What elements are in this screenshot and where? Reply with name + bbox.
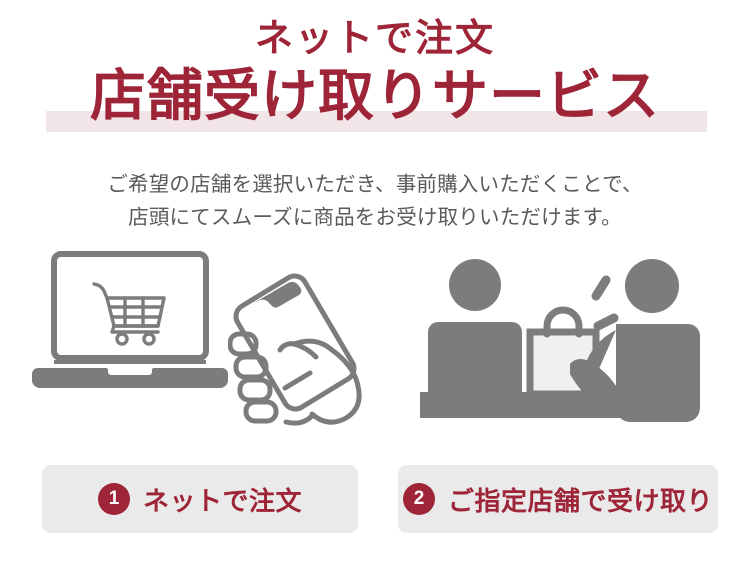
headline-main-wrapper: 店舗受け取りサービス (0, 68, 750, 132)
customer-head (449, 259, 501, 311)
headline-top: ネットで注文 (0, 20, 750, 58)
page-title: 店舗受け取りサービス (0, 68, 750, 124)
description: ご希望の店舗を選択いただき、事前購入いただくことで、 店頭にてスムーズに商品をお… (0, 168, 750, 234)
step-item-2[interactable]: 2 ご指定店舗で受け取り (398, 465, 718, 533)
store-counter-handover-icon (420, 252, 712, 429)
description-line-1: ご希望の店舗を選択いただき、事前購入いただくことで、 (0, 168, 750, 201)
description-line-2: 店頭にてスムーズに商品をお受け取りいただけます。 (0, 201, 750, 234)
step-number-badge-2: 2 (403, 483, 435, 515)
step-label-2: ご指定店舗で受け取り (448, 481, 713, 518)
illustration-row (0, 250, 750, 435)
promo-banner: ネットで注文 店舗受け取りサービス ご希望の店舗を選択いただき、事前購入いただく… (0, 0, 750, 570)
heading-block: ネットで注文 店舗受け取りサービス (0, 20, 750, 132)
step-number-badge-1: 1 (98, 483, 130, 515)
step-label-1: ネットで注文 (143, 481, 302, 518)
staff-head (625, 259, 679, 313)
step-item-1[interactable]: 1 ネットで注文 (42, 465, 358, 533)
step-row: 1 ネットで注文 2 ご指定店舗で受け取り (0, 465, 750, 533)
laptop-with-shopping-cart-icon (32, 250, 228, 395)
hand-holding-smartphone-icon (228, 258, 368, 431)
